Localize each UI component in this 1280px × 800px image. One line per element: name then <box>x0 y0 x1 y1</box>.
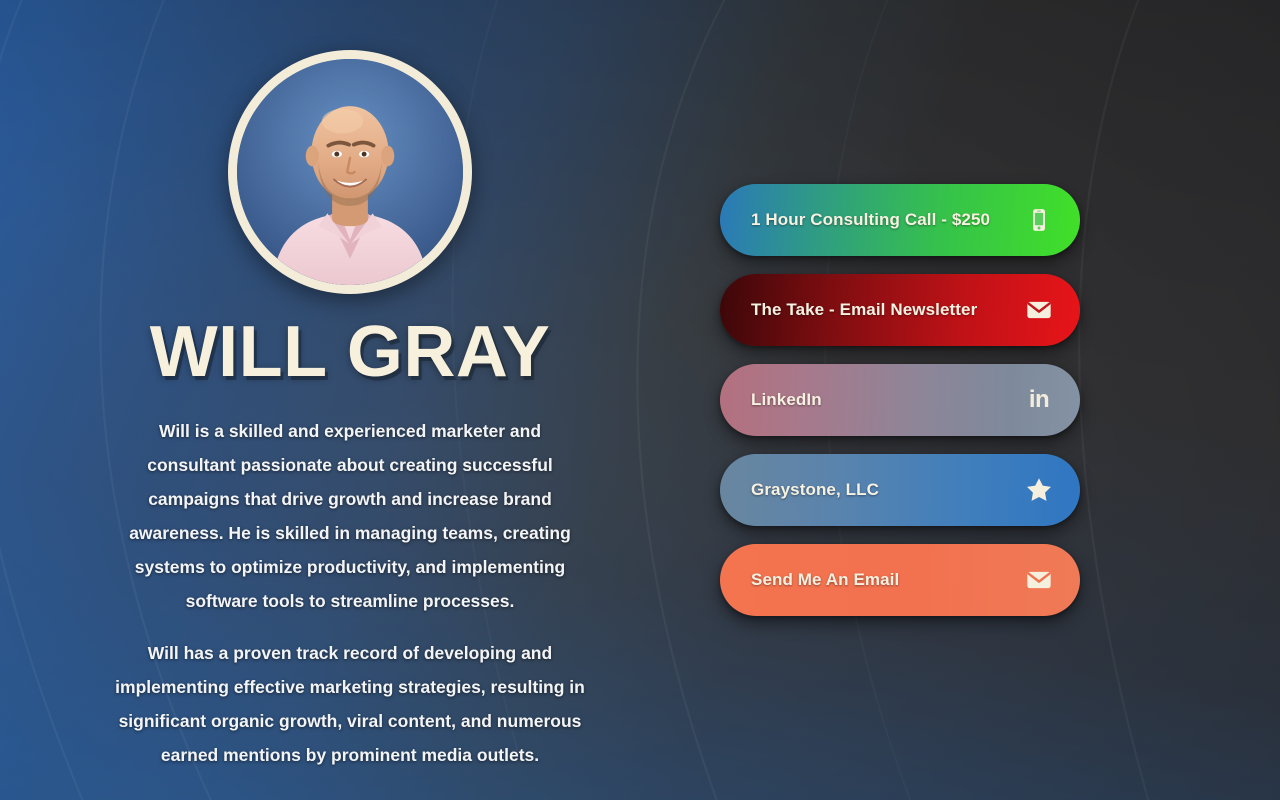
linkedin-in-glyph: in <box>1029 388 1049 412</box>
link-button-linkedin[interactable]: LinkedIn in <box>720 364 1080 436</box>
page-title: WILL GRAY <box>150 316 551 388</box>
profile-column: WILL GRAY Will is a skilled and experien… <box>0 0 700 800</box>
envelope-icon <box>1024 295 1054 325</box>
link-label: LinkedIn <box>751 390 822 410</box>
mobile-phone-icon <box>1024 205 1054 235</box>
link-button-consulting-call[interactable]: 1 Hour Consulting Call - $250 <box>720 184 1080 256</box>
link-label: Graystone, LLC <box>751 480 879 500</box>
envelope-icon <box>1024 565 1054 595</box>
bio-paragraph-1: Will is a skilled and experienced market… <box>115 414 585 618</box>
bio-text: Will is a skilled and experienced market… <box>115 414 585 772</box>
avatar-ring <box>228 50 472 294</box>
star-icon <box>1024 475 1054 505</box>
avatar <box>237 59 463 285</box>
link-button-email-newsletter[interactable]: The Take - Email Newsletter <box>720 274 1080 346</box>
link-button-graystone-llc[interactable]: Graystone, LLC <box>720 454 1080 526</box>
linkedin-in-icon: in <box>1024 385 1054 415</box>
links-column: 1 Hour Consulting Call - $250 The Take -… <box>700 0 1280 800</box>
portrait-illustration <box>237 59 463 285</box>
link-label: The Take - Email Newsletter <box>751 300 977 320</box>
bio-paragraph-2: Will has a proven track record of develo… <box>115 636 585 772</box>
link-label: Send Me An Email <box>751 570 899 590</box>
link-button-send-email[interactable]: Send Me An Email <box>720 544 1080 616</box>
link-label: 1 Hour Consulting Call - $250 <box>751 210 990 230</box>
